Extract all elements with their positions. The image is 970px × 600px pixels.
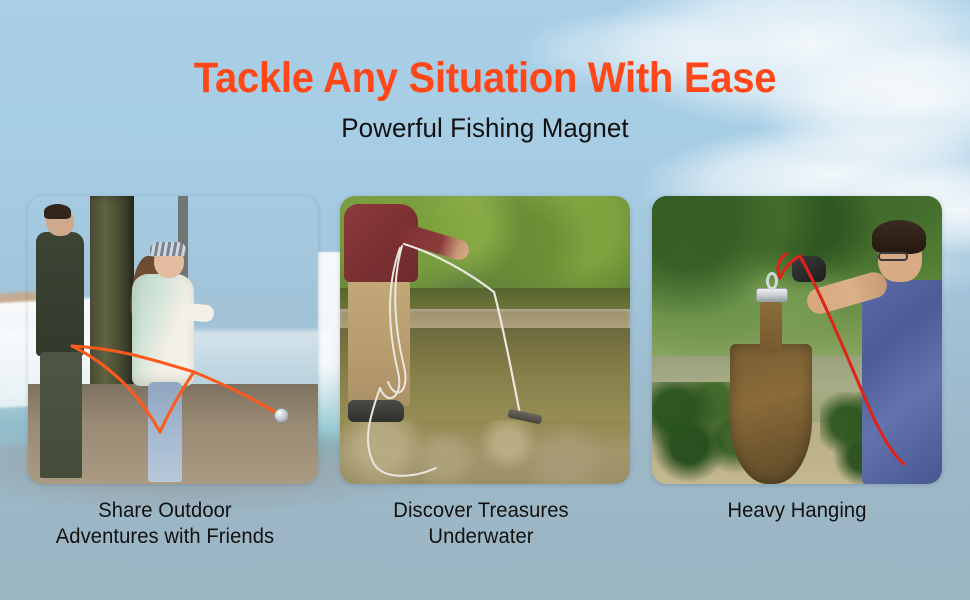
feature-panel-2[interactable] [340, 196, 630, 484]
magnet-rope-red [652, 196, 942, 484]
photo-discover-treasures-underwater [340, 196, 630, 484]
caption-3-line-1: Heavy Hanging [658, 498, 936, 524]
caption-row: Share Outdoor Adventures with Friends Di… [28, 498, 942, 568]
caption-panel-1: Share Outdoor Adventures with Friends [26, 498, 304, 568]
caption-panel-2: Discover Treasures Underwater [342, 498, 620, 568]
feature-panel-1[interactable] [28, 196, 318, 484]
feature-panel-3[interactable] [652, 196, 942, 484]
caption-2-line-1: Discover Treasures [342, 498, 620, 524]
magnet-rope-orange [28, 196, 318, 484]
caption-panel-3: Heavy Hanging [658, 498, 936, 568]
heading-block: Tackle Any Situation With Ease Powerful … [0, 0, 970, 144]
page-title: Tackle Any Situation With Ease [34, 55, 936, 102]
caption-1-line-1: Share Outdoor [26, 498, 304, 524]
caption-2-line-2: Underwater [342, 524, 620, 550]
fishing-magnet-disc [274, 408, 289, 423]
promo-banner: Tackle Any Situation With Ease Powerful … [0, 0, 970, 600]
feature-panel-row [28, 196, 942, 484]
magnet-rope-white [340, 196, 630, 484]
page-subtitle: Powerful Fishing Magnet [19, 113, 950, 144]
photo-heavy-hanging [652, 196, 942, 484]
photo-share-outdoor-adventures [28, 196, 318, 484]
caption-1-line-2: Adventures with Friends [26, 524, 304, 550]
